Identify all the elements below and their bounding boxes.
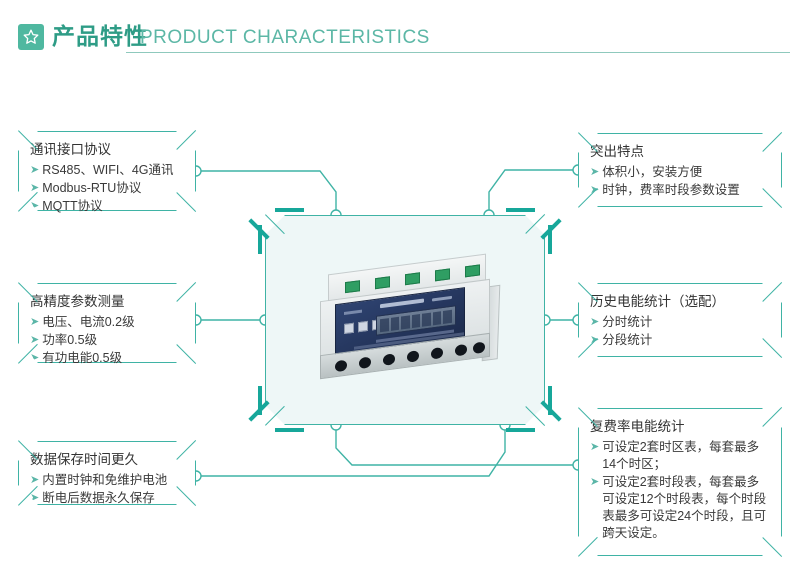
bullet-arrow-icon: ➤ xyxy=(30,314,39,331)
feature-box-title: 通讯接口协议 xyxy=(30,141,185,159)
bullet-arrow-icon: ➤ xyxy=(590,439,599,456)
feature-item: ➤ 分段统计 xyxy=(590,332,771,349)
feature-item: ➤ 断电后数据永久保存 xyxy=(30,490,185,507)
feature-box-history[interactable]: 历史电能统计（选配） ➤ 分时统计 ➤ 分段统计 xyxy=(578,283,782,357)
feature-item: ➤ 时钟，费率时段参数设置 xyxy=(590,182,771,199)
feature-item: ➤ 可设定2套时段表，每套最多可设定12个时段表，每个时段表最多可设定24个时段… xyxy=(590,474,771,542)
page-title-en: PRODUCT CHARACTERISTICS xyxy=(140,24,430,52)
page-title-cn: 产品特性 xyxy=(52,20,148,52)
panel-bracket-bl xyxy=(258,386,304,432)
feature-box-title: 数据保存时间更久 xyxy=(30,451,185,469)
feature-item: ➤ RS485、WIFI、4G通讯 xyxy=(30,162,185,179)
star-badge-icon xyxy=(18,24,44,50)
feature-box-highlights[interactable]: 突出特点 ➤ 体积小，安装方便 ➤ 时钟，费率时段参数设置 xyxy=(578,133,782,207)
feature-item: ➤ MQTT协议 xyxy=(30,198,185,215)
feature-item: ➤ Modbus-RTU协议 xyxy=(30,180,185,197)
feature-item: ➤ 电压、电流0.2级 xyxy=(30,314,185,331)
panel-bracket-tr xyxy=(506,208,552,254)
page-root: 产品特性 PRODUCT CHARACTERISTICS xyxy=(0,0,800,573)
product-image-panel xyxy=(265,215,545,425)
bullet-arrow-icon: ➤ xyxy=(30,162,39,179)
panel-bracket-br xyxy=(506,386,552,432)
panel-bracket-tl xyxy=(258,208,304,254)
feature-box-title: 复费率电能统计 xyxy=(590,418,771,436)
bullet-arrow-icon: ➤ xyxy=(590,314,599,331)
feature-item: ➤ 体积小，安装方便 xyxy=(590,164,771,181)
header-divider xyxy=(126,52,790,53)
feature-box-data-retention[interactable]: 数据保存时间更久 ➤ 内置时钟和免维护电池 ➤ 断电后数据永久保存 xyxy=(18,441,196,505)
feature-box-accuracy[interactable]: 高精度参数测量 ➤ 电压、电流0.2级 ➤ 功率0.5级 ➤ 有功电能0.5级 xyxy=(18,283,196,363)
feature-item: ➤ 分时统计 xyxy=(590,314,771,331)
feature-item: ➤ 可设定2套时区表，每套最多14个时区； xyxy=(590,439,771,473)
feature-item: ➤ 功率0.5级 xyxy=(30,332,185,349)
bullet-arrow-icon: ➤ xyxy=(590,164,599,181)
feature-item: ➤ 有功电能0.5级 xyxy=(30,350,185,367)
feature-box-title: 高精度参数测量 xyxy=(30,293,185,311)
page-header: 产品特性 PRODUCT CHARACTERISTICS xyxy=(0,0,800,70)
feature-box-title: 历史电能统计（选配） xyxy=(590,293,771,311)
feature-box-title: 突出特点 xyxy=(590,143,771,161)
product-photo-din-rail-energy-meter xyxy=(318,264,504,380)
feature-item: ➤ 内置时钟和免维护电池 xyxy=(30,472,185,489)
bullet-arrow-icon: ➤ xyxy=(590,474,599,491)
feature-box-multi-tariff[interactable]: 复费率电能统计 ➤ 可设定2套时区表，每套最多14个时区； ➤ 可设定2套时段表… xyxy=(578,408,782,556)
feature-box-communication[interactable]: 通讯接口协议 ➤ RS485、WIFI、4G通讯 ➤ Modbus-RTU协议 … xyxy=(18,131,196,211)
